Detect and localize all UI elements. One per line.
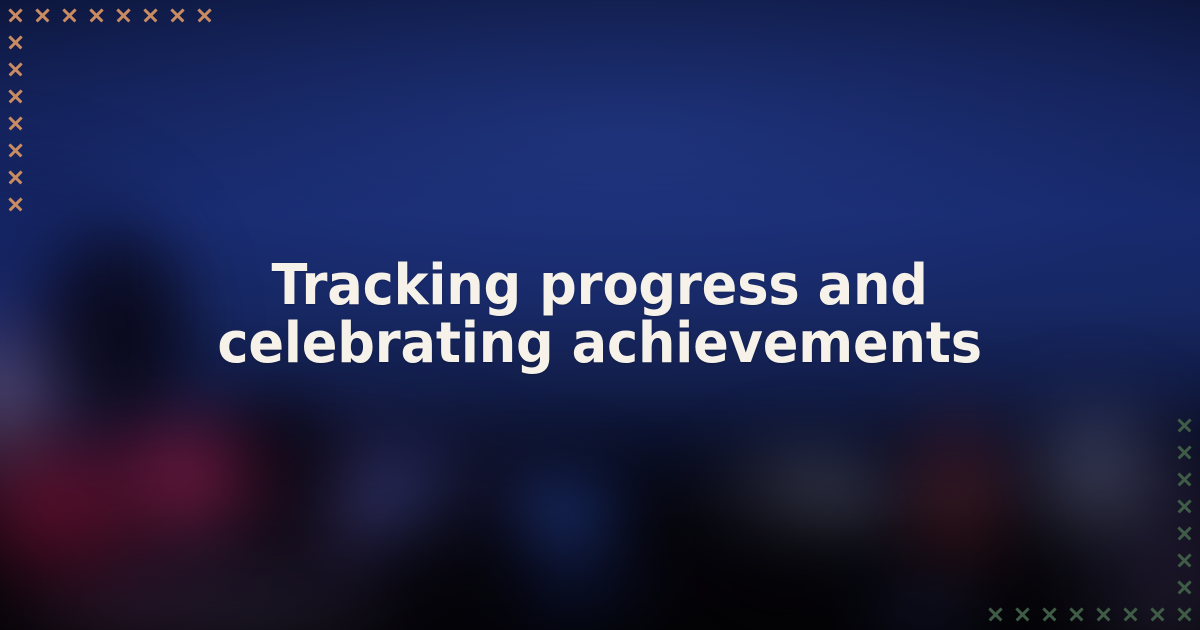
x-mark-icon	[137, 83, 164, 110]
x-mark-icon	[83, 29, 110, 56]
x-mark-icon	[110, 2, 137, 29]
x-mark-icon	[29, 83, 56, 110]
x-mark-icon	[1036, 547, 1063, 574]
x-mark-icon	[137, 137, 164, 164]
x-mark-icon	[1090, 493, 1117, 520]
x-mark-icon	[29, 191, 56, 218]
x-mark-icon	[2, 110, 29, 137]
x-mark-icon	[1117, 520, 1144, 547]
x-mark-icon	[1144, 601, 1171, 628]
x-mark-icon	[56, 2, 83, 29]
x-mark-icon	[2, 191, 29, 218]
x-mark-icon	[1171, 412, 1198, 439]
x-mark-icon	[1144, 520, 1171, 547]
x-mark-icon	[1117, 466, 1144, 493]
x-mark-icon	[1090, 520, 1117, 547]
x-mark-icon	[2, 29, 29, 56]
x-mark-icon	[83, 164, 110, 191]
x-mark-icon	[29, 110, 56, 137]
x-mark-icon	[1144, 574, 1171, 601]
x-mark-icon	[164, 56, 191, 83]
x-mark-icon	[191, 29, 218, 56]
x-mark-icon	[1171, 547, 1198, 574]
x-mark-icon	[1090, 547, 1117, 574]
x-mark-icon	[1171, 466, 1198, 493]
x-mark-icon	[1063, 493, 1090, 520]
x-mark-icon	[1036, 601, 1063, 628]
x-mark-icon	[164, 2, 191, 29]
decor-x-grid-bottom-right	[982, 412, 1198, 628]
x-mark-icon	[1009, 547, 1036, 574]
x-mark-icon	[164, 29, 191, 56]
x-mark-icon	[1090, 439, 1117, 466]
x-mark-icon	[1171, 601, 1198, 628]
x-mark-icon	[56, 110, 83, 137]
x-mark-icon	[1036, 520, 1063, 547]
x-mark-icon	[1171, 439, 1198, 466]
x-mark-icon	[1090, 574, 1117, 601]
x-mark-icon	[1063, 439, 1090, 466]
x-mark-icon	[56, 29, 83, 56]
x-mark-icon	[1063, 574, 1090, 601]
x-mark-icon	[1036, 466, 1063, 493]
x-mark-icon	[1171, 493, 1198, 520]
x-mark-icon	[137, 2, 164, 29]
x-mark-icon	[1117, 574, 1144, 601]
x-mark-icon	[56, 56, 83, 83]
x-mark-icon	[1063, 466, 1090, 493]
x-mark-icon	[1117, 601, 1144, 628]
x-mark-icon	[2, 56, 29, 83]
x-mark-icon	[83, 110, 110, 137]
x-mark-icon	[164, 110, 191, 137]
x-mark-icon	[1144, 493, 1171, 520]
x-mark-icon	[1063, 547, 1090, 574]
x-mark-icon	[2, 164, 29, 191]
x-mark-icon	[982, 547, 1009, 574]
x-mark-icon	[56, 137, 83, 164]
x-mark-icon	[1036, 574, 1063, 601]
x-mark-icon	[1036, 439, 1063, 466]
x-mark-icon	[1009, 466, 1036, 493]
x-mark-icon	[29, 137, 56, 164]
x-mark-icon	[2, 83, 29, 110]
x-mark-icon	[137, 56, 164, 83]
x-mark-icon	[110, 83, 137, 110]
x-mark-icon	[110, 29, 137, 56]
x-mark-icon	[1117, 439, 1144, 466]
x-mark-icon	[83, 83, 110, 110]
x-mark-icon	[982, 466, 1009, 493]
x-mark-icon	[191, 137, 218, 164]
x-mark-icon	[1036, 493, 1063, 520]
x-mark-icon	[2, 137, 29, 164]
x-mark-icon	[110, 110, 137, 137]
x-mark-icon	[1009, 520, 1036, 547]
x-mark-icon	[191, 164, 218, 191]
x-mark-icon	[56, 164, 83, 191]
x-mark-icon	[1144, 547, 1171, 574]
x-mark-icon	[1063, 520, 1090, 547]
x-mark-icon	[1090, 601, 1117, 628]
x-mark-icon	[137, 164, 164, 191]
x-mark-icon	[110, 137, 137, 164]
x-mark-icon	[982, 493, 1009, 520]
x-mark-icon	[1063, 601, 1090, 628]
x-mark-icon	[56, 83, 83, 110]
x-mark-icon	[1009, 439, 1036, 466]
x-mark-icon	[191, 2, 218, 29]
decor-x-grid-top-left	[2, 2, 218, 218]
x-mark-icon	[191, 56, 218, 83]
x-mark-icon	[29, 2, 56, 29]
x-mark-icon	[164, 164, 191, 191]
x-mark-icon	[110, 56, 137, 83]
x-mark-icon	[29, 29, 56, 56]
x-mark-icon	[29, 164, 56, 191]
x-mark-icon	[2, 2, 29, 29]
x-mark-icon	[1090, 466, 1117, 493]
headline-overlay-card: Tracking progress and celebrating achiev…	[100, 197, 1100, 432]
x-mark-icon	[1009, 601, 1036, 628]
page-title: Tracking progress and celebrating achiev…	[191, 257, 1008, 372]
x-mark-icon	[56, 191, 83, 218]
x-mark-icon	[1171, 520, 1198, 547]
x-mark-icon	[29, 56, 56, 83]
x-mark-icon	[1171, 574, 1198, 601]
x-mark-icon	[982, 439, 1009, 466]
x-mark-icon	[83, 56, 110, 83]
x-mark-icon	[191, 110, 218, 137]
x-mark-icon	[164, 83, 191, 110]
x-mark-icon	[982, 601, 1009, 628]
x-mark-icon	[1009, 574, 1036, 601]
x-mark-icon	[137, 110, 164, 137]
x-mark-icon	[137, 29, 164, 56]
x-mark-icon	[191, 83, 218, 110]
x-mark-icon	[982, 520, 1009, 547]
x-mark-icon	[1144, 412, 1171, 439]
x-mark-icon	[1117, 412, 1144, 439]
x-mark-icon	[982, 574, 1009, 601]
x-mark-icon	[1144, 439, 1171, 466]
x-mark-icon	[83, 137, 110, 164]
x-mark-icon	[1144, 466, 1171, 493]
banner-canvas: Tracking progress and celebrating achiev…	[0, 0, 1200, 630]
x-mark-icon	[1117, 547, 1144, 574]
x-mark-icon	[83, 2, 110, 29]
x-mark-icon	[164, 137, 191, 164]
x-mark-icon	[1009, 493, 1036, 520]
x-mark-icon	[1117, 493, 1144, 520]
x-mark-icon	[110, 164, 137, 191]
